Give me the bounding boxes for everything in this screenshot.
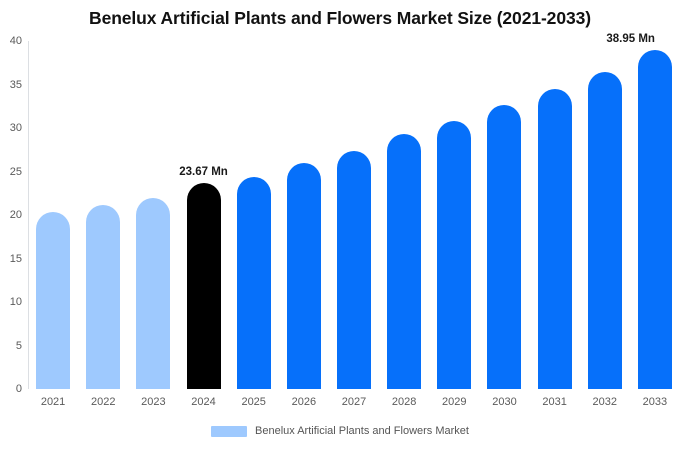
bar-rect[interactable] [86,205,120,389]
legend-item-label: Benelux Artificial Plants and Flowers Ma… [255,425,469,437]
bar-2031[interactable] [538,41,572,389]
bar-2021[interactable] [36,41,70,389]
x-axis-tick-label-2030: 2030 [492,396,516,408]
x-axis-tick-label-2031: 2031 [542,396,566,408]
bar-2032[interactable] [588,41,622,389]
chart-title: Benelux Artificial Plants and Flowers Ma… [0,8,680,29]
bar-2026[interactable] [287,41,321,389]
y-axis-tick-label: 15 [0,253,22,265]
bar-rect[interactable] [387,134,421,389]
x-axis-tick-label-2028: 2028 [392,396,416,408]
y-axis-tick-labels: 0510152025303540 [0,41,22,389]
bar-rect[interactable] [187,183,221,389]
bar-rect[interactable] [136,198,170,389]
bar-rect[interactable] [487,105,521,389]
bar-2027[interactable] [337,41,371,389]
x-axis-tick-label-2033: 2033 [643,396,667,408]
legend-swatch [211,426,247,437]
y-axis-tick-label: 10 [0,296,22,308]
y-axis-tick-label: 40 [0,35,22,47]
bar-2029[interactable] [437,41,471,389]
x-axis-tick-label-2026: 2026 [292,396,316,408]
y-axis-tick-label: 35 [0,79,22,91]
bar-rect[interactable] [437,121,471,389]
plot-area [28,41,680,389]
x-axis-tick-label-2025: 2025 [241,396,265,408]
bar-value-label-2024: 23.67 Mn [179,166,228,178]
bar-rect[interactable] [36,212,70,389]
bar-2028[interactable] [387,41,421,389]
x-axis-tick-label-2029: 2029 [442,396,466,408]
y-axis-tick-label: 25 [0,166,22,178]
bar-rect[interactable] [538,89,572,389]
x-axis-tick-label-2024: 2024 [191,396,215,408]
bar-2023[interactable] [136,41,170,389]
x-axis-tick-label-2022: 2022 [91,396,115,408]
bar-rect[interactable] [638,50,672,389]
x-axis-tick-label-2027: 2027 [342,396,366,408]
bar-rect[interactable] [588,72,622,389]
x-axis-tick-label-2032: 2032 [593,396,617,408]
bar-value-label-2033: 38.95 Mn [606,33,655,45]
chart-legend: Benelux Artificial Plants and Flowers Ma… [0,425,680,437]
bar-2025[interactable] [237,41,271,389]
y-axis-tick-label: 5 [0,340,22,352]
chart-container: Benelux Artificial Plants and Flowers Ma… [0,0,680,450]
bar-rect[interactable] [287,163,321,389]
x-axis-tick-label-2023: 2023 [141,396,165,408]
y-axis-tick-label: 30 [0,122,22,134]
bar-2022[interactable] [86,41,120,389]
bar-rect[interactable] [237,177,271,389]
bar-2030[interactable] [487,41,521,389]
x-axis-tick-label-2021: 2021 [41,396,65,408]
y-axis-tick-label: 20 [0,209,22,221]
bar-2024[interactable] [187,41,221,389]
bar-2033[interactable] [638,41,672,389]
y-axis-tick-label: 0 [0,383,22,395]
bar-rect[interactable] [337,151,371,389]
